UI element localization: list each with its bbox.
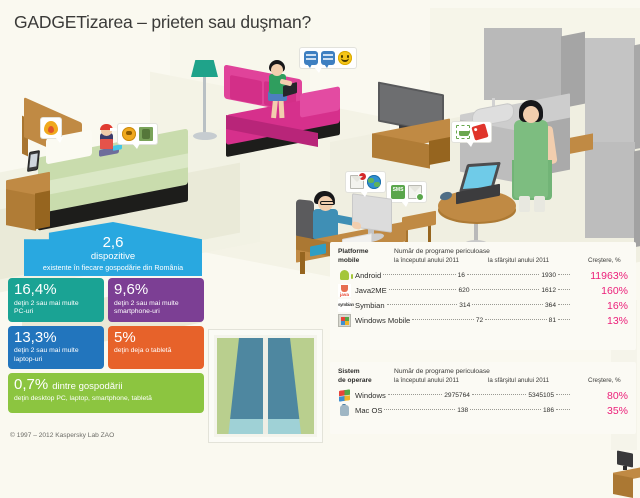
woman-leg	[534, 196, 545, 212]
household-devices-value: 2,6	[24, 235, 202, 250]
platform-name: Windows Mobile	[355, 316, 410, 325]
mobile-table-category-line2: mobile	[338, 257, 394, 266]
child-shirt	[100, 139, 113, 149]
table-row: Mac OS 138 186 35%	[330, 403, 636, 418]
price-tag-icon	[471, 123, 488, 140]
dot-leader	[485, 319, 547, 320]
os-table-col-start: la începutul anului 2011	[394, 377, 488, 384]
stat-pc-value: 16,4%	[14, 282, 98, 298]
chat-icon	[321, 51, 335, 65]
operating-systems-table: Sistem de operare Număr de programe peri…	[330, 362, 636, 434]
stat-tablet-value: 5%	[114, 330, 198, 346]
small-tv-screen	[617, 450, 633, 467]
value-end: 364	[545, 302, 556, 309]
value-start: 2975764	[444, 392, 470, 399]
kitchen-tall-cabinet-lower-side	[634, 149, 640, 248]
speech-bubble-bedroom	[118, 124, 157, 144]
os-table-category-header: Sistem de operare	[338, 368, 394, 385]
mobile-table-header: Platforme mobile Număr de programe peric…	[330, 242, 636, 265]
windows-icon	[338, 389, 351, 402]
speech-bubble-kitchen	[452, 122, 491, 142]
household-devices-description: existente în fiecare gospodărie din Româ…	[24, 263, 202, 272]
dot-leader	[472, 394, 526, 395]
kitchen-upper-cabinet	[484, 28, 562, 100]
office-chair-back	[296, 199, 314, 241]
dot-leader	[558, 319, 570, 320]
statistics-row: 0,7% dintre gospodării deţin desktop PC,…	[8, 373, 204, 413]
os-table-header-right: Număr de programe periculoase la început…	[394, 368, 640, 385]
value-growth: 80%	[572, 390, 628, 402]
os-table-column-headers: la începutul anului 2011 la sfârşitul an…	[394, 377, 640, 384]
nightstand-front	[6, 189, 36, 231]
value-start: 314	[459, 302, 470, 309]
value-end: 1930	[541, 272, 556, 279]
value-growth: 35%	[572, 405, 628, 417]
os-table-header: Sistem de operare Număr de programe peri…	[330, 362, 636, 385]
kitchen-tall-cabinet-lower	[585, 142, 635, 238]
infographic-canvas: GADGETizarea – prieten sau duşman?	[0, 0, 640, 454]
dot-leader	[470, 409, 541, 410]
value-start: 620	[458, 287, 469, 294]
sms-icon: SMS	[391, 185, 405, 199]
stat-smartphone-value: 9,6%	[114, 282, 198, 298]
mobile-table-column-headers: la începutul anului 2011 la sfârşitul an…	[394, 257, 640, 264]
mobile-table-col-end: la sfârşitul anului 2011	[488, 257, 588, 264]
woman-dress	[514, 120, 548, 198]
stat-all-devices-value: 0,7%	[14, 377, 48, 393]
page-title: GADGETizarea – prieten sau duşman?	[14, 12, 311, 33]
floor-lamp-base	[193, 132, 217, 140]
stat-all-devices-headline: dintre gospodării	[52, 381, 122, 392]
android-icon	[338, 269, 351, 282]
copyright-notice: © 1997 – 2012 Kaspersky Lab ZAO	[10, 432, 114, 439]
dot-leader	[472, 304, 543, 305]
child-cap-brim	[110, 128, 117, 131]
platform-name: Android	[355, 271, 381, 280]
dot-leader	[558, 289, 570, 290]
os-table-category-line2: de operare	[338, 377, 394, 386]
java-icon: java	[338, 284, 351, 297]
kitchen-tall-cabinet-upper-side	[634, 43, 640, 150]
value-growth: 16%	[572, 300, 628, 312]
value-end: 186	[543, 407, 554, 414]
value-start: 16	[458, 272, 465, 279]
floor-lamp-pole	[203, 72, 206, 136]
table-row: java Java2ME 620 1612 160%	[330, 283, 636, 298]
dot-leader	[383, 274, 455, 275]
value-start: 138	[457, 407, 468, 414]
chat-icon	[304, 51, 318, 65]
dot-leader	[556, 394, 570, 395]
dot-leader	[388, 394, 442, 395]
game-character-icon	[122, 127, 136, 141]
statistics-row: 13,3% deţin 2 sau mai multe laptop-uri 5…	[8, 326, 204, 370]
value-growth: 11963%	[572, 270, 628, 282]
desk-leg	[300, 252, 305, 274]
symbian-icon: symbian	[338, 299, 351, 312]
value-growth: 160%	[572, 285, 628, 297]
dot-leader	[412, 319, 474, 320]
value-start: 72	[476, 317, 483, 324]
speech-bubble-flame	[41, 118, 61, 138]
table-row: Android 16 1930 11963%	[330, 268, 636, 283]
mobile-platforms-table: Platforme mobile Număr de programe peric…	[330, 242, 636, 350]
window	[209, 330, 322, 442]
stat-all-devices-label: deţin desktop PC, laptop, smartphone, ta…	[14, 395, 198, 403]
dot-leader	[558, 304, 570, 305]
mobile-table-col-growth: Creştere, %	[588, 257, 640, 264]
flame-icon	[44, 121, 58, 135]
os-name: Windows	[355, 391, 386, 400]
table-row: symbian Symbian 314 364 16%	[330, 298, 636, 313]
table-row: Windows Mobile 72 81 13%	[330, 313, 636, 328]
dot-leader	[556, 409, 570, 410]
kitchen-tall-cabinet-upper	[585, 38, 635, 142]
speech-bubble-desk	[346, 172, 385, 192]
tv-unit-side	[429, 137, 450, 165]
statistics-row: 16,4% deţin 2 sau mai multe PC-uri 9,6% …	[8, 278, 204, 322]
os-name: Mac OS	[355, 406, 382, 415]
mail-icon	[350, 175, 364, 189]
mobile-table-category-header: Platforme mobile	[338, 248, 394, 265]
stat-pc: 16,4% deţin 2 sau mai multe PC-uri	[8, 278, 104, 322]
dot-leader	[389, 289, 457, 290]
shopping-cart-icon	[456, 125, 470, 139]
platform-name: Java2ME	[355, 286, 387, 295]
table-row: Windows 2975764 5345105 80%	[330, 388, 636, 403]
smiley-icon	[338, 51, 352, 65]
value-end: 1612	[541, 287, 556, 294]
stat-laptop: 13,3% deţin 2 sau mai multe laptop-uri	[8, 326, 104, 370]
mac-os-icon	[338, 404, 351, 417]
globe-icon	[367, 175, 381, 189]
dot-leader	[384, 409, 455, 410]
dot-leader	[472, 289, 540, 290]
household-devices-unit: dispozitive	[24, 251, 202, 262]
statistics-grid: 16,4% deţin 2 sau mai multe PC-uri 9,6% …	[8, 278, 204, 417]
os-table-col-growth: Creştere, %	[588, 377, 640, 384]
woman-leg	[519, 196, 530, 212]
value-growth: 13%	[572, 315, 628, 327]
stat-laptop-value: 13,3%	[14, 330, 98, 346]
mail-ok-icon	[408, 185, 422, 199]
speech-bubble-table: SMS	[387, 182, 426, 202]
mobile-table-col-start: la începutul anului 2011	[394, 257, 488, 264]
stat-smartphone: 9,6% deţin 2 sau mai multe smartphone-ur…	[108, 278, 204, 322]
game-tree-icon	[139, 127, 153, 141]
value-end: 5345105	[528, 392, 554, 399]
stat-tablet-label: deţin deja o tabletă	[114, 347, 198, 355]
window-mullion	[263, 338, 268, 434]
os-table-category-line1: Sistem	[338, 368, 394, 377]
small-cabinet-front	[613, 474, 633, 498]
dot-leader	[387, 304, 458, 305]
glasses-icon	[320, 201, 335, 205]
nightstand-side	[35, 191, 50, 230]
os-table-col-end: la sfârşitul anului 2011	[488, 377, 588, 384]
sofa-person-leg	[279, 100, 285, 118]
stat-laptop-label: deţin 2 sau mai multe laptop-uri	[14, 347, 98, 364]
speech-bubble-sofa	[300, 48, 356, 68]
value-end: 81	[549, 317, 556, 324]
mobile-table-header-right: Număr de programe periculoase la început…	[394, 248, 640, 265]
stat-all-devices: 0,7% dintre gospodării deţin desktop PC,…	[8, 373, 204, 413]
stat-tablet: 5% deţin deja o tabletă	[108, 326, 204, 370]
mobile-table-category-line1: Platforme	[338, 248, 394, 257]
dot-leader	[558, 274, 570, 275]
floor-lamp-shade	[191, 60, 218, 77]
woman-head	[523, 106, 539, 123]
platform-name: Symbian	[355, 301, 385, 310]
windows-mobile-icon	[338, 314, 351, 327]
stat-smartphone-label: deţin 2 sau mai multe smartphone-uri	[114, 300, 198, 317]
dot-leader	[467, 274, 539, 275]
os-table-metric-header: Număr de programe periculoase	[394, 368, 640, 375]
mobile-table-metric-header: Număr de programe periculoase	[394, 248, 640, 255]
sofa-person-head	[271, 64, 283, 76]
stat-pc-label: deţin 2 sau mai multe PC-uri	[14, 300, 98, 317]
